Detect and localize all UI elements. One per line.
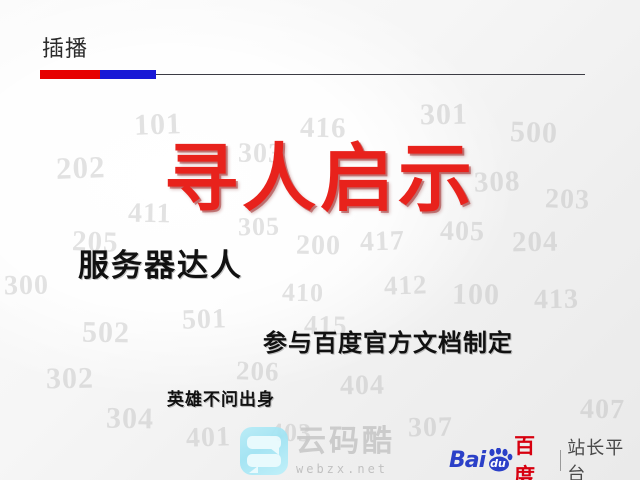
background-number: 501 bbox=[182, 305, 228, 335]
background-number: 407 bbox=[580, 396, 625, 425]
subline-3: 英雄不问出身 bbox=[167, 392, 275, 409]
subline-2: 参与百度官方文档制定 bbox=[263, 331, 513, 355]
site-watermark: 云码酷 webzx.net bbox=[240, 424, 420, 478]
baidu-logo-latin: Bai bbox=[449, 448, 485, 473]
baidu-logo-chinese: 百度 bbox=[514, 430, 554, 480]
background-number: 412 bbox=[384, 271, 428, 300]
paw-print-icon: du bbox=[485, 448, 513, 472]
baidu-platform-label: 站长平台 bbox=[567, 434, 640, 480]
background-number: 100 bbox=[452, 280, 501, 311]
baidu-logo: Bai du 百度 站长平台 bbox=[449, 447, 640, 473]
header-rule-blue-segment bbox=[100, 70, 156, 79]
background-number: 413 bbox=[534, 286, 579, 315]
watermark-text-group: 云码酷 webzx.net bbox=[296, 427, 395, 476]
baidu-logo-du-label: du bbox=[490, 457, 506, 470]
watermark-site-name: 云码酷 bbox=[296, 427, 395, 457]
background-number: 200 bbox=[296, 232, 341, 261]
background-number: 404 bbox=[340, 372, 385, 401]
background-number: 417 bbox=[360, 227, 406, 257]
background-number: 410 bbox=[282, 280, 324, 307]
subline-1: 服务器达人 bbox=[78, 251, 243, 282]
background-number: 302 bbox=[46, 364, 95, 395]
background-number: 304 bbox=[106, 404, 155, 435]
slide-canvas: 1014163015002023033082034113052004174052… bbox=[0, 0, 640, 480]
background-number: 502 bbox=[82, 318, 131, 349]
chat-bubble-bottom-tail bbox=[249, 466, 258, 473]
background-number: 204 bbox=[512, 228, 559, 258]
slide-header: 插播 bbox=[0, 0, 640, 84]
headline-text: 寻人启示 bbox=[0, 142, 640, 216]
background-number: 300 bbox=[4, 272, 49, 301]
header-rule-red-segment bbox=[40, 70, 100, 79]
page-title: 插播 bbox=[42, 31, 88, 63]
background-number: 301 bbox=[420, 100, 469, 131]
background-number: 401 bbox=[186, 423, 232, 453]
watermark-site-url: webzx.net bbox=[296, 462, 395, 476]
baidu-logo-divider bbox=[560, 450, 561, 471]
background-number: 206 bbox=[236, 357, 280, 386]
watermark-chat-icon bbox=[240, 427, 288, 475]
